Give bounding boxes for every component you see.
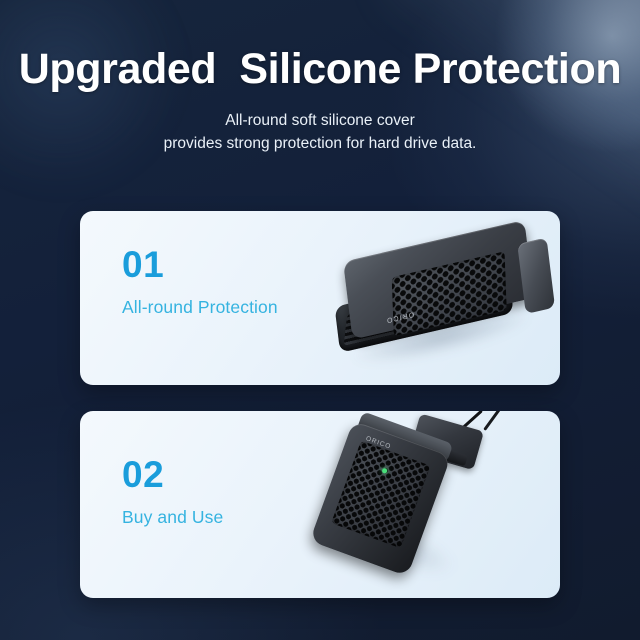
feature-card-2-number: 02 bbox=[122, 455, 223, 495]
subtitle-line-1: All-round soft silicone cover bbox=[0, 110, 640, 133]
subtitle-line-2: provides strong protection for hard driv… bbox=[0, 133, 640, 156]
corner-glow bbox=[380, 0, 640, 210]
corner-glow-secondary bbox=[0, 0, 180, 190]
feature-card-1-number: 01 bbox=[122, 245, 278, 285]
feature-card-2[interactable]: 02 Buy and Use ORICO bbox=[80, 411, 560, 598]
product-image-enclosure: ORICO bbox=[330, 223, 550, 378]
marketing-banner: Upgraded Silicone Protection All-round s… bbox=[0, 0, 640, 640]
product-image-enclosure-with-cable: ORICO bbox=[295, 415, 560, 595]
feature-card-1[interactable]: 01 All-round Protection ORICO bbox=[80, 211, 560, 385]
feature-card-1-label: All-round Protection bbox=[122, 296, 278, 318]
feature-card-2-label: Buy and Use bbox=[122, 506, 223, 528]
feature-card-2-text: 02 Buy and Use bbox=[122, 455, 223, 528]
enclosure-end-cap bbox=[517, 237, 555, 314]
usb-cable-upper bbox=[483, 411, 522, 431]
page-title: Upgraded Silicone Protection bbox=[0, 44, 640, 94]
feature-card-1-text: 01 All-round Protection bbox=[122, 245, 278, 318]
page-subtitle: All-round soft silicone cover provides s… bbox=[0, 110, 640, 155]
